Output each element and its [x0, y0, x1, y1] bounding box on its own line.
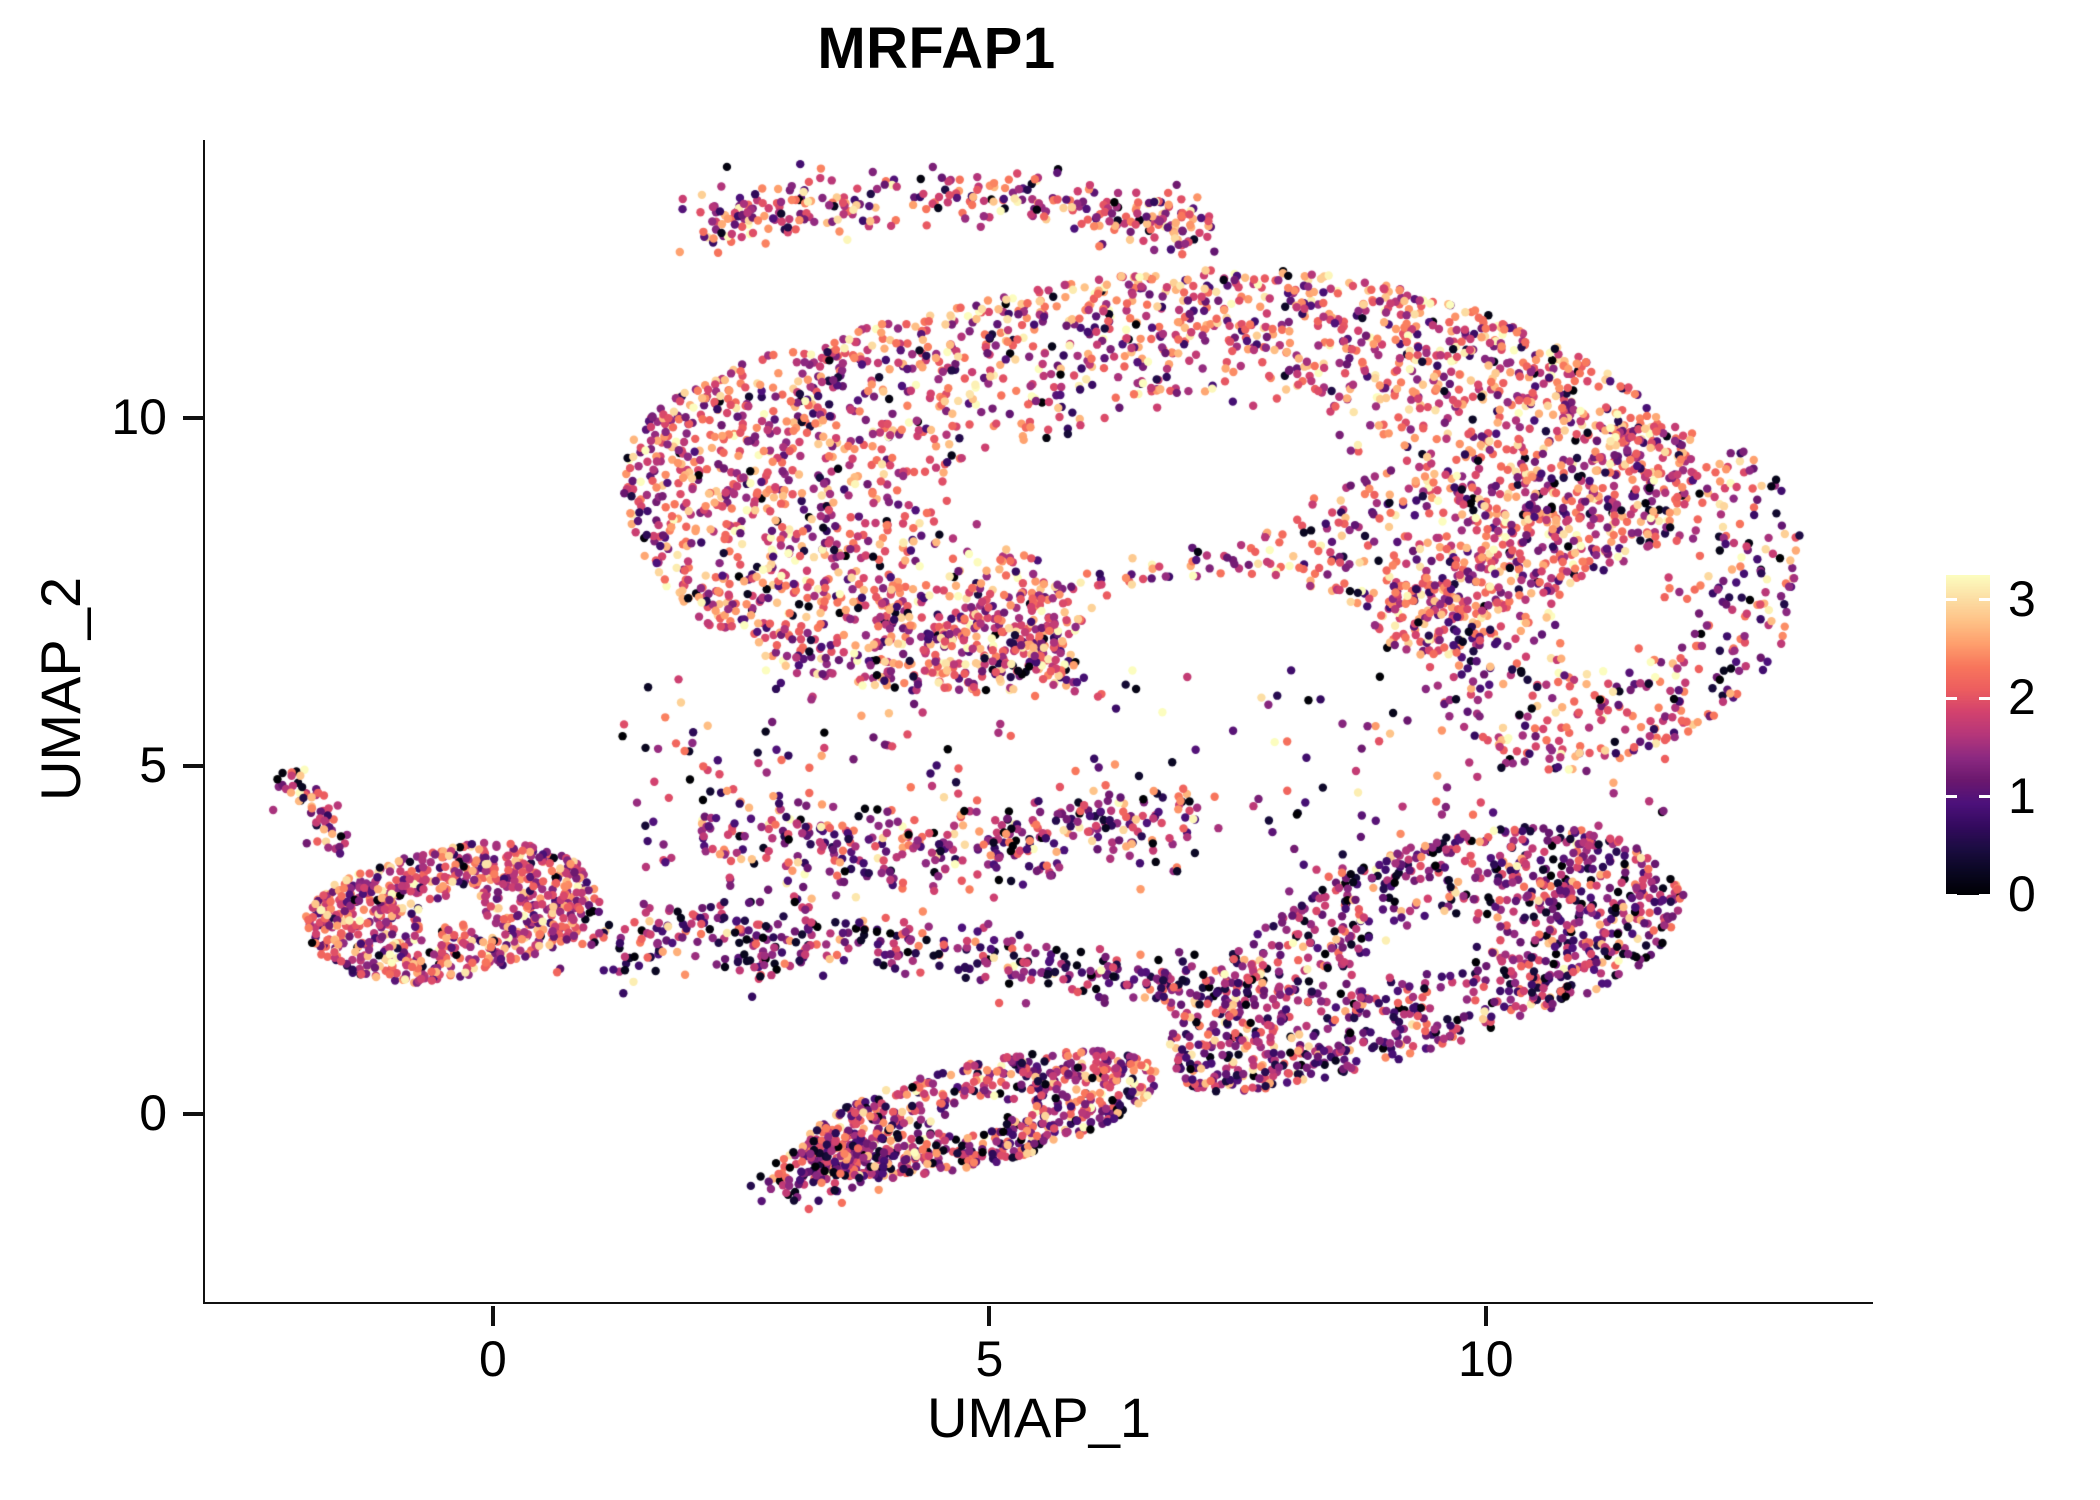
y-tick-mark — [183, 764, 203, 768]
colorbar-tick-label: 3 — [2008, 574, 2036, 624]
y-tick-label: 0 — [139, 1088, 167, 1138]
y-tick-label: 10 — [111, 392, 167, 442]
colorbar-tick-mark — [1946, 697, 1957, 700]
colorbar-tick-mark — [1946, 598, 1957, 601]
colorbar-tick-mark — [1946, 795, 1957, 798]
scatter-plot-canvas — [205, 140, 1873, 1302]
colorbar-tick-mark — [1979, 697, 1990, 700]
x-tick-mark — [987, 1306, 991, 1326]
plot-panel — [205, 140, 1873, 1302]
y-tick-mark — [183, 1112, 203, 1116]
y-tick-mark — [183, 416, 203, 420]
colorbar-tick-label: 1 — [2008, 771, 2036, 821]
colorbar-tick-label: 2 — [2008, 672, 2036, 722]
colorbar-tick-label: 0 — [2008, 869, 2036, 919]
x-tick-mark — [491, 1306, 495, 1326]
page-title: MRFAP1 — [0, 20, 1873, 78]
colorbar-tick-mark — [1979, 894, 1990, 897]
x-tick-mark — [1484, 1306, 1488, 1326]
y-tick-label: 5 — [139, 740, 167, 790]
x-tick-label: 0 — [413, 1334, 573, 1384]
chart-root: MRFAP1 1050 0510 UMAP_1 UMAP_2 3210 — [0, 0, 2100, 1500]
colorbar-legend — [1946, 575, 1990, 895]
colorbar-gradient — [1946, 575, 1990, 895]
x-tick-label: 10 — [1406, 1334, 1566, 1384]
colorbar-tick-mark — [1946, 894, 1957, 897]
x-axis-label: UMAP_1 — [205, 1390, 1873, 1446]
colorbar-tick-mark — [1979, 598, 1990, 601]
x-tick-label: 5 — [909, 1334, 1069, 1384]
y-axis-label: UMAP_2 — [33, 108, 89, 1270]
colorbar-tick-mark — [1979, 795, 1990, 798]
